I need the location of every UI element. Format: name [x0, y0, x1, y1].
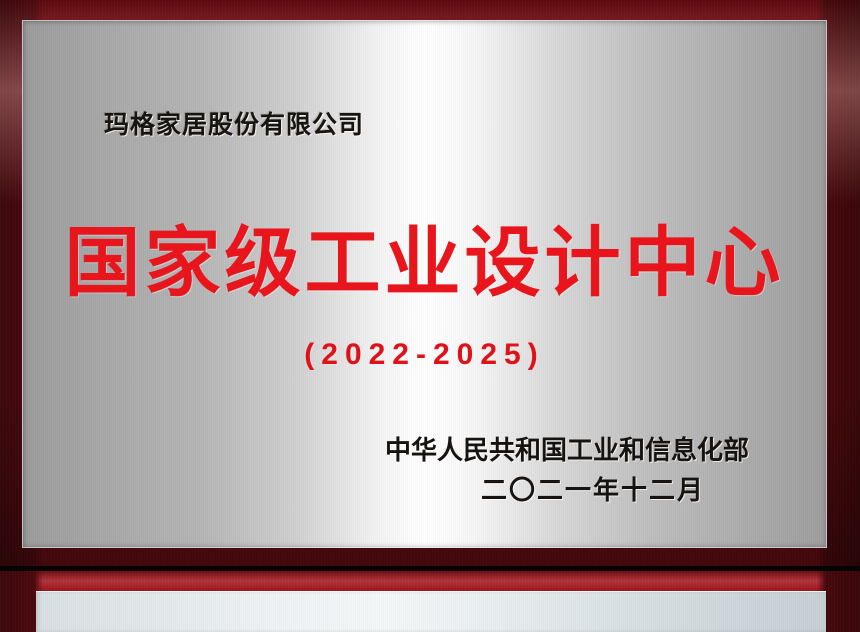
- award-period: (2022-2025): [22, 338, 827, 372]
- award-plaque-secondary: [0, 571, 860, 632]
- plaque-photo: 玛格家居股份有限公司 国家级工业设计中心 (2022-2025) 中华人民共和国…: [0, 0, 860, 632]
- award-title: 国家级工业设计中心: [22, 226, 827, 302]
- organization-name: 玛格家居股份有限公司: [104, 105, 364, 141]
- plaque-text-layer: 玛格家居股份有限公司 国家级工业设计中心 (2022-2025) 中华人民共和国…: [22, 20, 827, 548]
- plaque-metal-panel: 玛格家居股份有限公司 国家级工业设计中心 (2022-2025) 中华人民共和国…: [22, 20, 827, 548]
- issue-date: 二〇二一年十二月: [481, 470, 705, 507]
- plaque-metal-panel-secondary: [36, 591, 826, 632]
- award-plaque-primary: 玛格家居股份有限公司 国家级工业设计中心 (2022-2025) 中华人民共和国…: [0, 0, 860, 566]
- issuing-authority: 中华人民共和国工业和信息化部: [385, 430, 749, 467]
- brushed-metal-texture-secondary: [36, 591, 826, 632]
